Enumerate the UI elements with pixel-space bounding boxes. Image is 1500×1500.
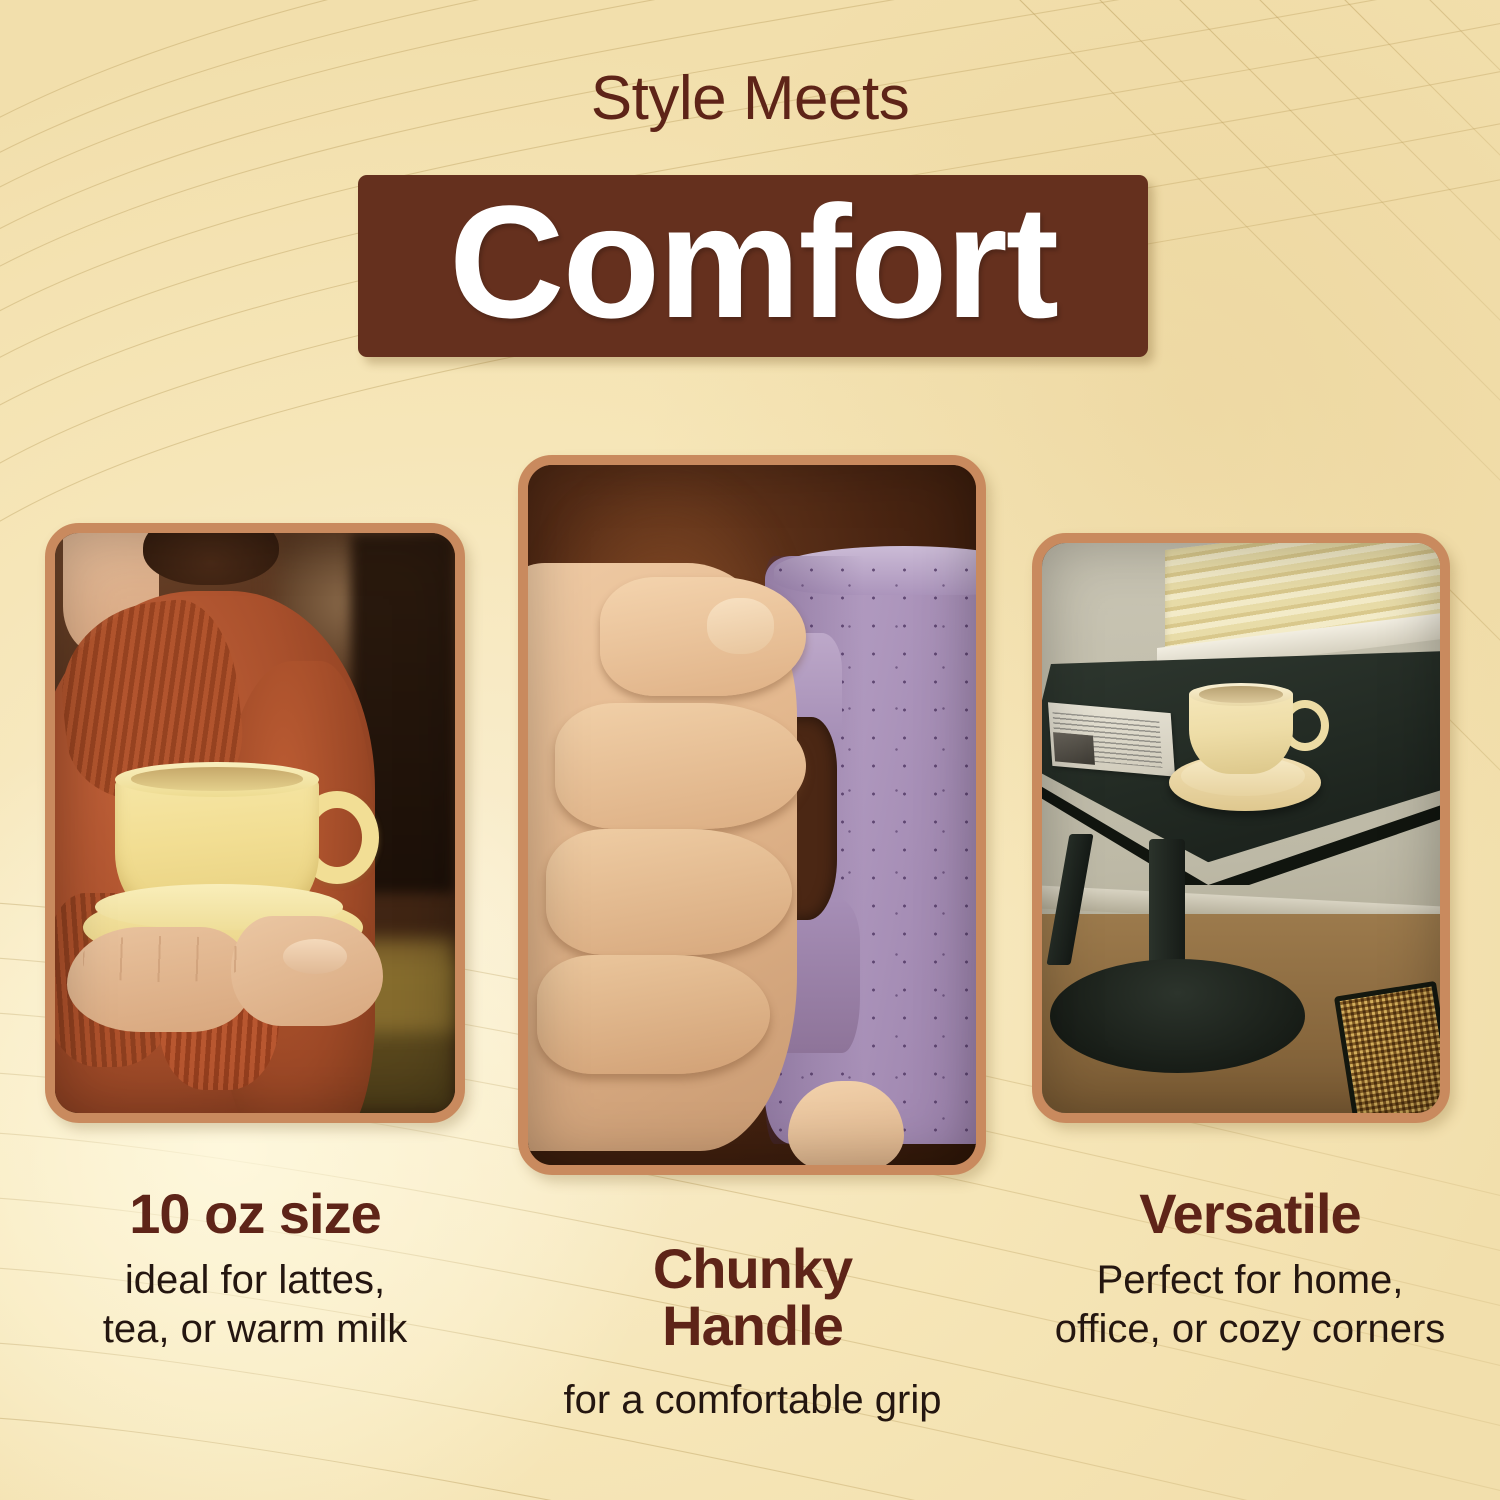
caption-size: 10 oz size ideal for lattes, tea, or war… xyxy=(20,1185,490,1354)
caption-subtitle-size: ideal for lattes, tea, or warm milk xyxy=(20,1256,490,1354)
caption-subtitle-size-line1: ideal for lattes, xyxy=(20,1256,490,1305)
caption-subtitle-handle: for a comfortable grip xyxy=(480,1376,1025,1425)
caption-title-size: 10 oz size xyxy=(20,1185,490,1242)
caption-subtitle-versatile-line2: office, or cozy corners xyxy=(1015,1305,1485,1354)
caption-title-handle-line2: Handle xyxy=(480,1297,1025,1354)
feature-card-handle[interactable] xyxy=(518,455,986,1175)
photo-hand-gripping-handle xyxy=(528,465,976,1165)
feature-card-size[interactable] xyxy=(45,523,465,1123)
caption-title-handle: Chunky Handle xyxy=(480,1240,1025,1354)
caption-title-versatile: Versatile xyxy=(1015,1185,1485,1242)
caption-subtitle-versatile-line1: Perfect for home, xyxy=(1015,1256,1485,1305)
caption-subtitle-size-line2: tea, or warm milk xyxy=(20,1305,490,1354)
feature-card-versatile[interactable] xyxy=(1032,533,1450,1123)
caption-handle: Chunky Handle for a comfortable grip xyxy=(480,1240,1025,1425)
caption-subtitle-versatile: Perfect for home, office, or cozy corner… xyxy=(1015,1256,1485,1354)
product-feature-banner: Style Meets Comfort xyxy=(0,0,1500,1500)
photo-cup-on-table xyxy=(1042,543,1440,1113)
caption-versatile: Versatile Perfect for home, office, or c… xyxy=(1015,1185,1485,1354)
photo-woman-holding-cup xyxy=(55,533,455,1113)
caption-title-handle-line1: Chunky xyxy=(480,1240,1025,1297)
